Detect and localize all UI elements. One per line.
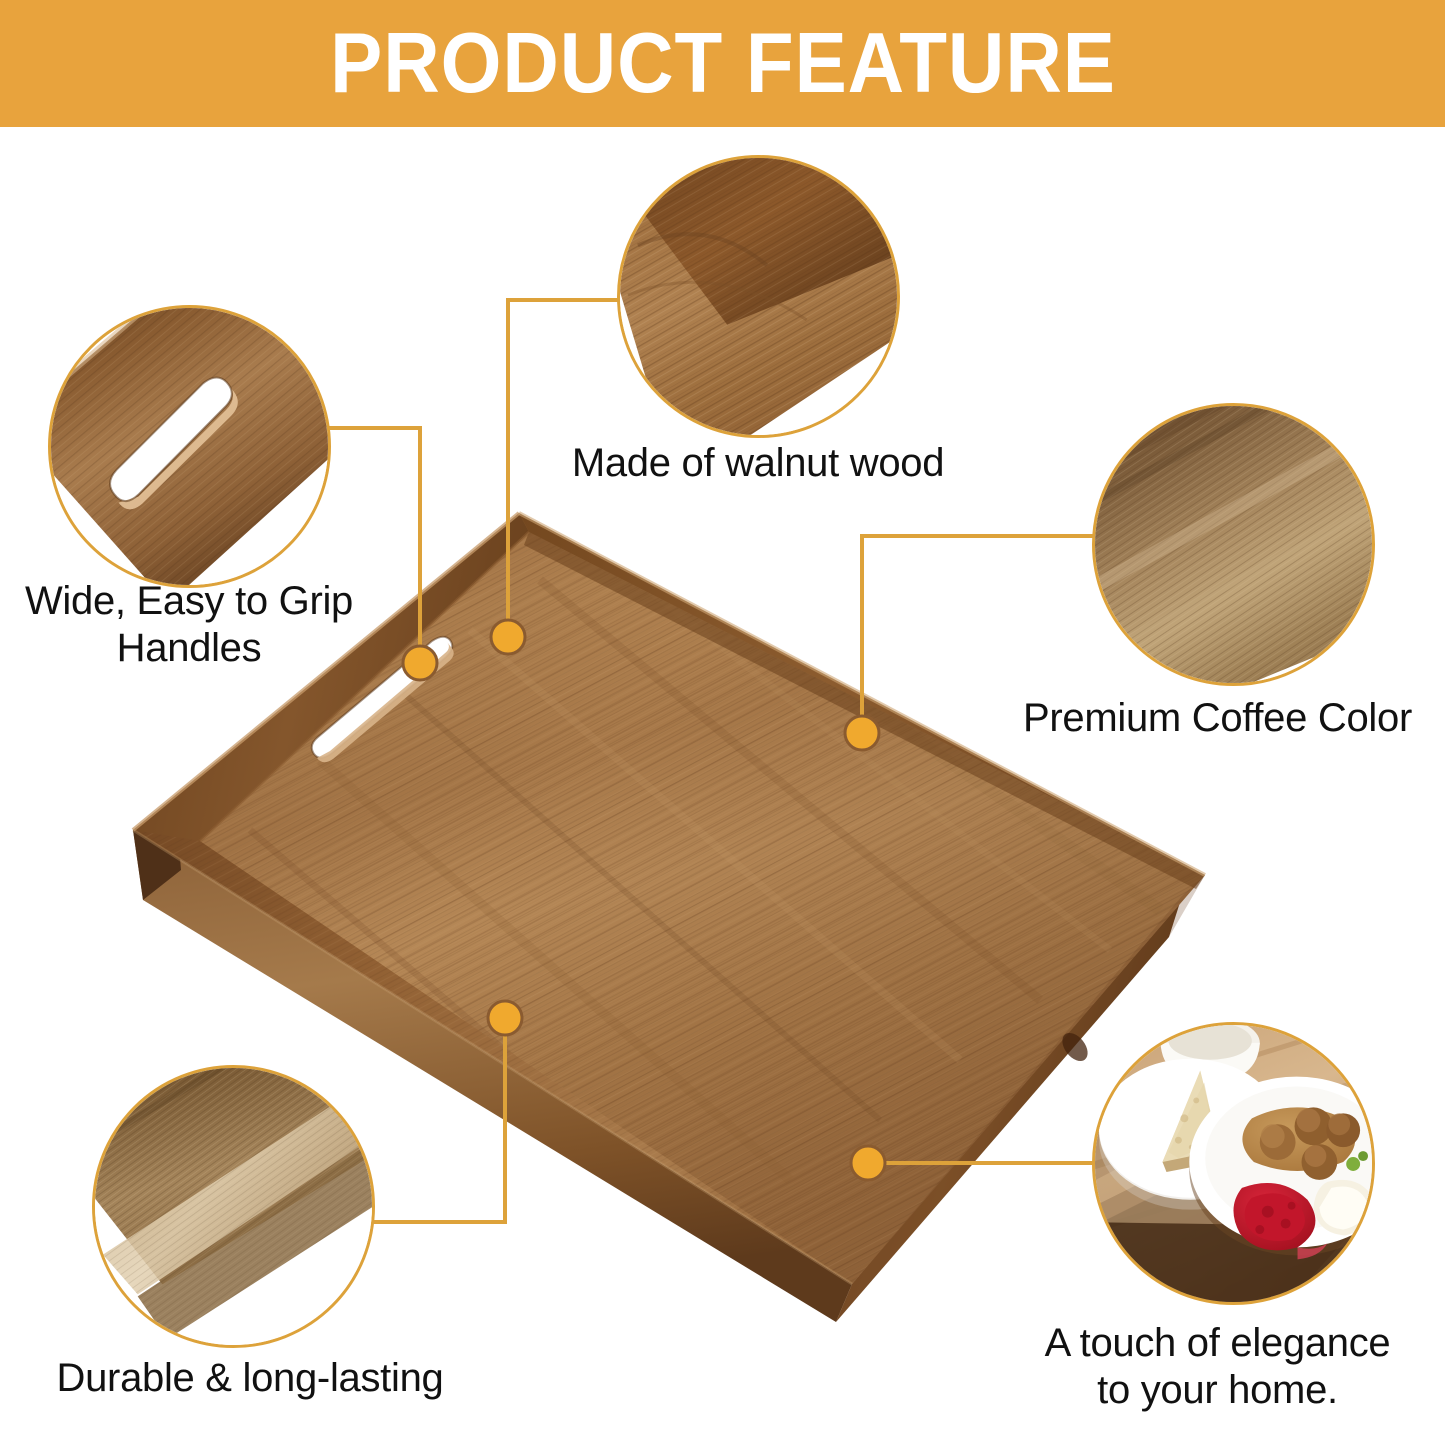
callout-circle-walnut: [617, 155, 900, 438]
caption-durable: Durable & long-lasting: [0, 1355, 500, 1402]
caption-elegance: A touch of elegance to your home.: [990, 1320, 1445, 1414]
caption-handles: Wide, Easy to Grip Handles: [0, 578, 378, 672]
infographic-canvas: PRODUCT FEATURE: [0, 0, 1445, 1445]
callout-circle-coffee-color: [1092, 403, 1375, 686]
callout-circle-durable: [92, 1065, 375, 1348]
callout-circle-handles: [48, 305, 331, 588]
caption-walnut: Made of walnut wood: [488, 440, 1028, 487]
caption-coffee-color: Premium Coffee Color: [990, 695, 1445, 742]
callout-circle-elegance: [1092, 1022, 1375, 1305]
